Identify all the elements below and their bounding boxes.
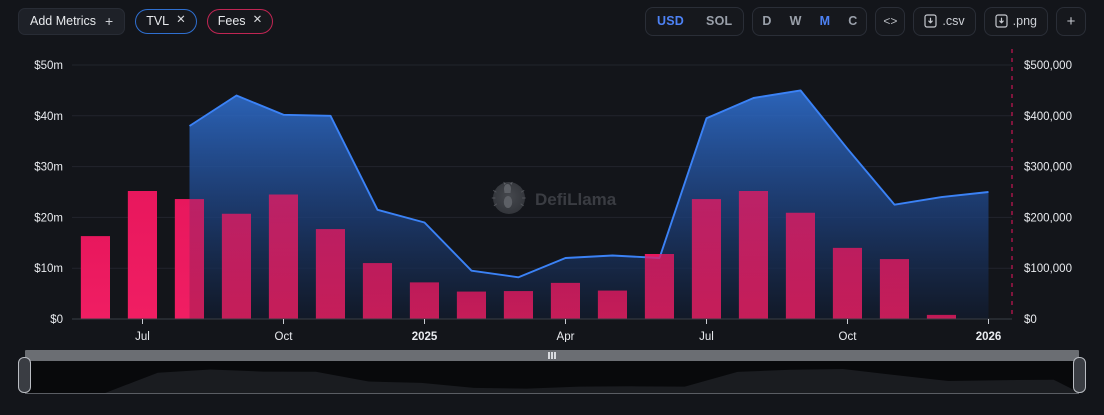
fees-bar[interactable] [175, 199, 204, 319]
fees-bar[interactable] [81, 236, 110, 319]
add-metrics-button[interactable]: Add Metrics + [18, 8, 125, 35]
fees-bar[interactable] [927, 315, 956, 319]
close-icon[interactable]: ✕ [176, 15, 186, 27]
x-axis-tick-label: Apr [557, 331, 575, 342]
left-axis-tick-label: $40m [34, 111, 63, 123]
defillama-watermark: DefiLlama [492, 182, 617, 214]
period-toggle-group: D W M C [752, 7, 867, 36]
brush-handle-right[interactable] [1073, 357, 1086, 393]
combined-tvl-fees-chart[interactable]: DefiLlama $0$10m$20m$30m$40m$50m$0$100,0… [0, 42, 1104, 342]
right-axis-tick-label: $200,000 [1024, 212, 1072, 224]
file-download-icon [924, 14, 937, 28]
fees-bar[interactable] [786, 213, 815, 319]
chart-range-brush[interactable] [25, 350, 1079, 398]
chart-toolbar: Add Metrics + TVL ✕ Fees ✕ USD SOL D W M [0, 0, 1104, 42]
brush-grip-handle[interactable] [546, 351, 558, 360]
brush-track[interactable] [25, 350, 1079, 361]
file-download-icon [995, 14, 1008, 28]
download-csv-label: .csv [942, 14, 964, 28]
brush-preview[interactable] [25, 361, 1079, 393]
defillama-chart-panel: Add Metrics + TVL ✕ Fees ✕ USD SOL D W M [0, 0, 1104, 415]
fees-bar[interactable] [504, 291, 533, 319]
download-png-label: .png [1013, 14, 1037, 28]
right-axis-tick-label: $100,000 [1024, 263, 1072, 275]
period-option-weekly[interactable]: W [781, 8, 811, 35]
brush-baseline [25, 393, 1079, 394]
x-axis-tick-label: Oct [275, 331, 294, 342]
download-png-button[interactable]: .png [984, 7, 1048, 36]
add-chart-button[interactable]: + [1056, 7, 1086, 36]
left-axis-tick-label: $30m [34, 162, 63, 174]
period-option-daily[interactable]: D [753, 8, 780, 35]
metric-chip-fees-label: Fees [218, 14, 246, 28]
left-axis-tick-label: $20m [34, 212, 63, 224]
fees-bar[interactable] [739, 191, 768, 319]
metric-chip-tvl[interactable]: TVL ✕ [135, 9, 197, 34]
plus-icon: + [105, 14, 113, 28]
fees-bar[interactable] [833, 248, 862, 319]
fees-bar[interactable] [316, 229, 345, 319]
fees-bar[interactable] [598, 291, 627, 319]
x-axis-tick-label: 2026 [976, 331, 1002, 342]
fees-bar[interactable] [692, 199, 721, 319]
period-option-cumulative[interactable]: C [839, 8, 866, 35]
metric-chip-fees[interactable]: Fees ✕ [207, 9, 273, 34]
left-axis-tick-label: $50m [34, 60, 63, 72]
x-axis-tick-label: Jul [135, 331, 150, 342]
fees-bar[interactable] [222, 214, 251, 319]
currency-toggle-group: USD SOL [645, 7, 744, 36]
right-axis-tick-label: $300,000 [1024, 162, 1072, 174]
watermark-text: DefiLlama [535, 190, 617, 209]
fees-bar[interactable] [645, 254, 674, 319]
x-axis-tick-label: Oct [839, 331, 858, 342]
toolbar-right-group: USD SOL D W M C <> .csv [645, 7, 1086, 36]
embed-code-button[interactable]: <> [875, 7, 905, 36]
code-brackets-icon: <> [883, 14, 897, 28]
brush-preview-chart [26, 361, 1079, 393]
close-icon[interactable]: ✕ [253, 15, 263, 27]
currency-option-sol[interactable]: SOL [695, 8, 743, 35]
right-axis-tick-label: $400,000 [1024, 111, 1072, 123]
fees-bar[interactable] [457, 292, 486, 319]
add-metrics-label: Add Metrics [30, 14, 96, 28]
metric-chip-tvl-label: TVL [146, 14, 169, 28]
currency-option-usd[interactable]: USD [646, 8, 695, 35]
right-axis-tick-label: $0 [1024, 314, 1037, 326]
fees-bar[interactable] [410, 282, 439, 319]
left-axis-tick-label: $0 [50, 314, 63, 326]
right-axis-tick-label: $500,000 [1024, 60, 1072, 72]
x-axis-tick-label: Jul [699, 331, 714, 342]
fees-bar[interactable] [880, 259, 909, 319]
toolbar-left-group: Add Metrics + TVL ✕ Fees ✕ [18, 8, 273, 35]
fees-bar[interactable] [551, 283, 580, 319]
fees-bar[interactable] [269, 195, 298, 320]
plus-icon: + [1067, 14, 1076, 29]
fees-bar[interactable] [128, 191, 157, 319]
chart-canvas[interactable]: DefiLlama $0$10m$20m$30m$40m$50m$0$100,0… [0, 42, 1104, 342]
download-csv-button[interactable]: .csv [913, 7, 975, 36]
x-axis-tick-label: 2025 [412, 331, 438, 342]
left-axis-tick-label: $10m [34, 263, 63, 275]
brush-handle-left[interactable] [18, 357, 31, 393]
period-option-monthly[interactable]: M [811, 8, 840, 35]
fees-bar[interactable] [363, 263, 392, 319]
